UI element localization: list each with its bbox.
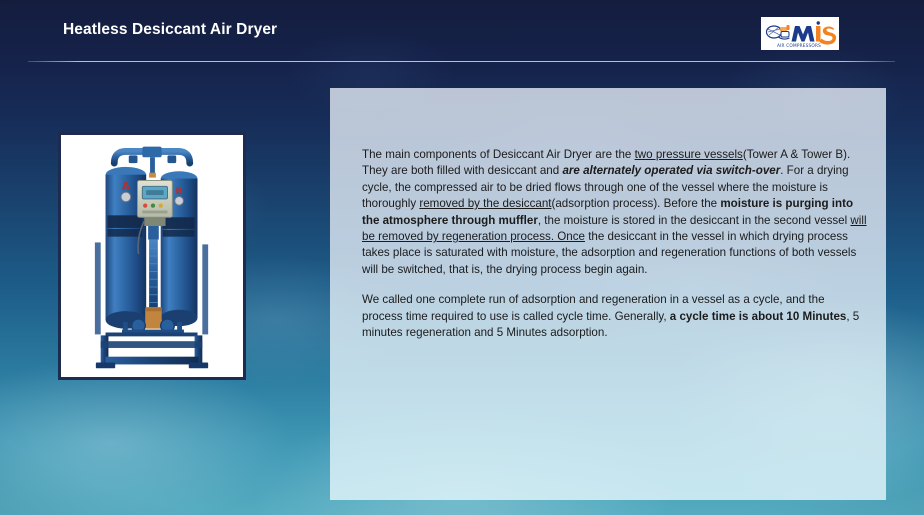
mis-wordmark <box>792 21 837 44</box>
vessel-b-label: B <box>175 186 182 197</box>
compressor-mark-icon <box>767 25 790 39</box>
mis-air-compressors-logo-icon: AIR COMPRESSORS <box>763 19 837 49</box>
text-run: are alternately operated via switch-over <box>562 164 780 177</box>
text-run: (adsorption process). Before the <box>552 197 721 210</box>
vessel-a-label: A <box>122 180 131 193</box>
title-divider-rule <box>28 61 895 62</box>
desiccant-dryer-illustration: A B <box>61 135 243 377</box>
paragraph-1: The main components of Desiccant Air Dry… <box>362 147 868 278</box>
top-valve <box>142 147 161 158</box>
text-run: two pressure vessels <box>635 148 743 161</box>
text-run: a cycle time is about 10 Minutes <box>670 310 847 323</box>
company-logo: AIR COMPRESSORS <box>761 17 839 50</box>
page-title: Heatless Desiccant Air Dryer <box>63 21 277 39</box>
text-run: , the moisture is stored in the desiccan… <box>538 214 851 227</box>
text-run: removed by the desiccant <box>419 197 551 210</box>
paragraph-2: We called one complete run of adsorption… <box>362 292 868 341</box>
content-panel: The main components of Desiccant Air Dry… <box>330 88 886 500</box>
product-photo: A B <box>58 132 246 380</box>
slide-canvas: Heatless Desiccant Air Dryer AIR CO <box>0 0 924 515</box>
panel-body-text: The main components of Desiccant Air Dry… <box>362 147 868 341</box>
text-run: The main components of Desiccant Air Dry… <box>362 148 635 161</box>
logo-tagline-text: AIR COMPRESSORS <box>777 43 821 49</box>
